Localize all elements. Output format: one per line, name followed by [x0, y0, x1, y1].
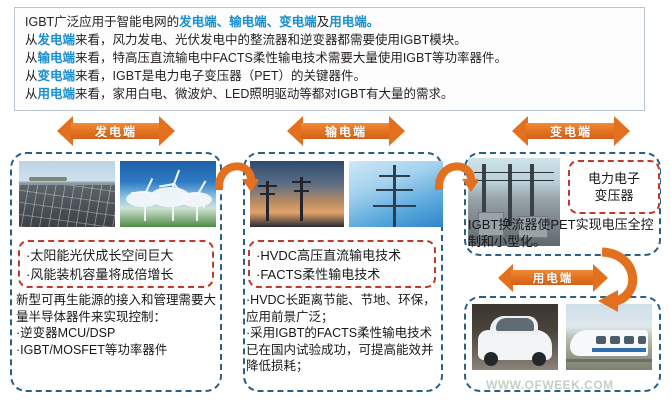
- generation-body-bullet-1: ·逆变器MCU/DSP: [16, 325, 220, 342]
- generation-body-paragraph: 新型可再生能源的接入和管理需要大量半导体器件来实现控制：: [16, 292, 220, 325]
- substation-body-text: IGBT换流器使PET实现电压全控制和小型化。: [468, 216, 658, 250]
- transmission-highlight-box: ·HVDC高压直流输电技术 ·FACTS柔性输电技术: [248, 240, 436, 288]
- connector-arrow-substation-to-usage-icon: [596, 246, 650, 312]
- generation-highlight-box: ·太阳能光伏成长空间巨大 ·风能装机容量将成倍增长: [18, 240, 214, 288]
- header-line-1-segment-4: 用电端。: [329, 15, 379, 29]
- header-line-1-segment-1: IGBT广泛应用于智能电网的: [25, 15, 179, 29]
- header-line-1-segment-2: 发电端、输电端、变电端: [179, 15, 317, 29]
- pet-label-line-1: 电力电子: [588, 170, 640, 187]
- solar-farm-photo: [19, 161, 115, 227]
- generation-highlight-line-1: ·太阳能光伏成长空间巨大: [26, 246, 212, 265]
- connector-arrow-transmission-to-substation-icon: [432, 146, 478, 192]
- header-line-2-segment-2: 发电端: [38, 33, 76, 47]
- header-line-5-segment-2: 用电端: [38, 87, 76, 101]
- header-line-2: 从发电端来看，风力发电、光伏发电中的整流器和逆变器都需要使用IGBT模块。: [25, 31, 636, 49]
- header-line-4-segment-3: 来看，IGBT是电力电子变压器（PET）的关键器件。: [75, 69, 366, 83]
- arrow-transmission-stage: 输电端: [287, 116, 405, 146]
- header-line-1-segment-3: 及: [317, 15, 330, 29]
- high-speed-train-photo: [566, 304, 652, 370]
- transmission-highlight-line-2: ·FACTS柔性输电技术: [256, 265, 434, 284]
- usage-image-row: [472, 304, 652, 370]
- header-summary-box: IGBT广泛应用于智能电网的发电端、输电端、变电端及用电端。 从发电端来看，风力…: [14, 7, 645, 111]
- generation-image-row: [19, 161, 216, 227]
- header-line-3-segment-3: 来看，特高压直流输电中FACTS柔性输电技术需要大量使用IGBT等功率器件。: [75, 51, 507, 65]
- header-line-5-segment-1: 从: [25, 87, 38, 101]
- transmission-body-text: ·HVDC长距离节能、节地、环保，应用前景广泛； ·采用IGBT的FACTS柔性…: [246, 292, 440, 375]
- header-line-5-segment-3: 来看，家用白电、微波炉、LED照明驱动等都对IGBT有大量的需求。: [75, 87, 454, 101]
- pylon-sunset-photo: [250, 161, 344, 227]
- generation-body-bullet-2: ·IGBT/MOSFET等功率器件: [16, 342, 220, 359]
- wind-turbines-photo: [120, 161, 216, 227]
- generation-highlight-line-2: ·风能装机容量将成倍增长: [26, 265, 212, 284]
- arrow-substation-label: 变电端: [550, 123, 592, 140]
- igbt-smart-grid-infographic: IGBT广泛应用于智能电网的发电端、输电端、变电端及用电端。 从发电端来看，风力…: [0, 0, 671, 403]
- header-line-5: 从用电端来看，家用白电、微波炉、LED照明驱动等都对IGBT有大量的需求。: [25, 85, 636, 103]
- pet-highlight-box: 电力电子 变压器: [568, 160, 660, 214]
- pylon-blue-sky-photo: [349, 161, 443, 227]
- header-line-4-segment-2: 变电端: [38, 69, 76, 83]
- header-line-3: 从输电端来看，特高压直流输电中FACTS柔性输电技术需要大量使用IGBT等功率器…: [25, 49, 636, 67]
- arrow-head-right-icon: [389, 116, 405, 146]
- header-line-3-segment-2: 输电端: [38, 51, 76, 65]
- transmission-body-bullet-2: ·采用IGBT的FACTS柔性输电技术已在国内试验成功，可提高能效并降低损耗；: [246, 325, 440, 375]
- arrow-generation-label: 发电端: [95, 123, 137, 140]
- arrow-head-right-icon: [614, 116, 630, 146]
- connector-arrow-generation-to-transmission-icon: [212, 146, 258, 192]
- arrow-usage-label: 用电端: [533, 270, 574, 286]
- header-line-2-segment-1: 从: [25, 33, 38, 47]
- transmission-body-bullet-1: ·HVDC长距离节能、节地、环保，应用前景广泛；: [246, 292, 440, 325]
- pet-label-line-2: 变压器: [594, 187, 633, 204]
- arrow-substation-stage: 变电端: [512, 116, 630, 146]
- arrow-generation-stage: 发电端: [57, 116, 175, 146]
- arrow-usage-stage: 用电端: [498, 264, 608, 292]
- header-line-3-segment-1: 从: [25, 51, 38, 65]
- transmission-image-row: [250, 161, 443, 227]
- transmission-highlight-line-1: ·HVDC高压直流输电技术: [256, 246, 434, 265]
- generation-body-text: 新型可再生能源的接入和管理需要大量半导体器件来实现控制： ·逆变器MCU/DSP…: [16, 292, 220, 358]
- header-line-4-segment-1: 从: [25, 69, 38, 83]
- electric-car-photo: [472, 304, 558, 370]
- site-watermark: WWW.OFWEEK.COM: [486, 378, 666, 392]
- header-line-4: 从变电端来看，IGBT是电力电子变压器（PET）的关键器件。: [25, 67, 636, 85]
- arrow-transmission-label: 输电端: [325, 123, 367, 140]
- header-line-2-segment-3: 来看，风力发电、光伏发电中的整流器和逆变器都需要使用IGBT模块。: [75, 33, 467, 47]
- header-line-1: IGBT广泛应用于智能电网的发电端、输电端、变电端及用电端。: [25, 13, 636, 31]
- arrow-head-right-icon: [159, 116, 175, 146]
